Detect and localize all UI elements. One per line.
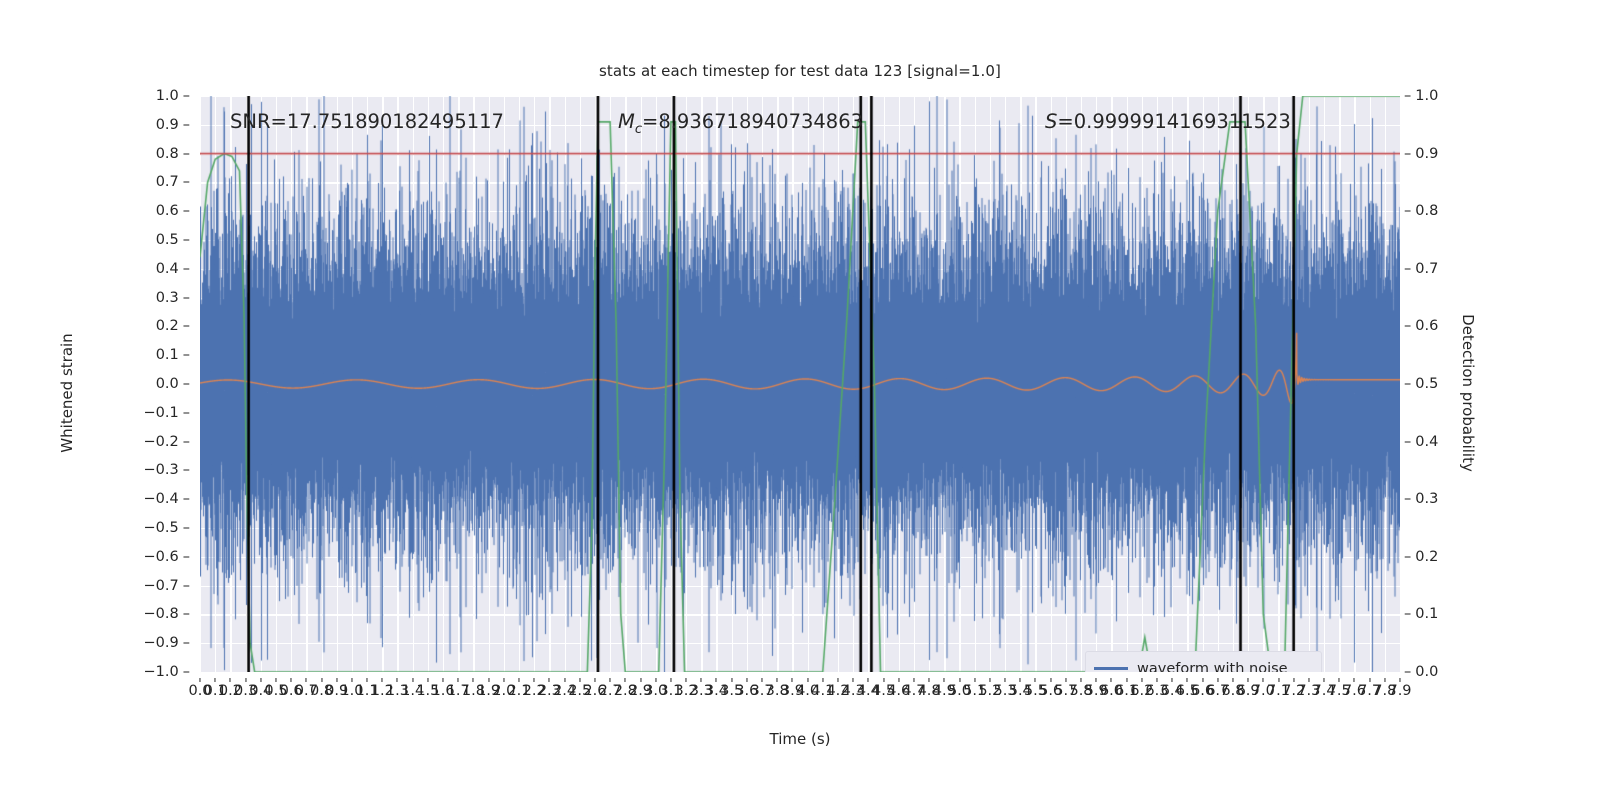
y-tick-label-right: –0.5 <box>1404 376 1514 392</box>
y-tick-label-left: 0.7– <box>90 174 190 190</box>
legend: waveform with noise waveform without noi… <box>1085 651 1322 672</box>
y-tick-label-left: −0.7– <box>90 578 190 594</box>
y-tick-label-left: −0.5– <box>90 520 190 536</box>
y-tick-label-right: –0.7 <box>1404 261 1514 277</box>
annotation-chirp-mass: Mc=8.936718940734863 <box>618 110 863 137</box>
legend-label-noisy: waveform with noise <box>1137 661 1288 673</box>
y-tick-label-right: –0.3 <box>1404 491 1514 507</box>
y-tick-label-right: –0.1 <box>1404 606 1514 622</box>
plot-traces-canvas <box>200 96 1400 672</box>
matplotlib-figure: stats at each timestep for test data 123… <box>0 0 1600 800</box>
y-axis-label-left: Whitened strain <box>58 193 76 593</box>
y-tick-label-left: 0.0– <box>90 376 190 392</box>
y-tick-label-left: −0.3– <box>90 462 190 478</box>
y-tick-label-left: −0.9– <box>90 635 190 651</box>
y-tick-label-right: –0.8 <box>1404 203 1514 219</box>
y-tick-label-left: 0.4– <box>90 261 190 277</box>
y-tick-label-left: 0.6– <box>90 203 190 219</box>
y-tick-label-left: −1.0– <box>90 664 190 680</box>
y-tick-label-left: 0.2– <box>90 318 190 334</box>
y-tick-label-left: 1.0– <box>90 88 190 104</box>
y-axis-label-right: Detection probability <box>1459 193 1477 593</box>
annotation-snr-text: SNR=17.751890182495117 <box>230 110 504 133</box>
legend-swatch-noisy <box>1094 667 1128 669</box>
y-tick-label-right: –0.0 <box>1404 664 1514 680</box>
page-title: stats at each timestep for test data 123… <box>0 62 1600 80</box>
y-tick-label-left: 0.1– <box>90 347 190 363</box>
y-tick-label-left: −0.1– <box>90 405 190 421</box>
y-tick-label-right: –0.9 <box>1404 146 1514 162</box>
y-tick-label-right: –0.2 <box>1404 549 1514 565</box>
y-tick-label-left: 0.3– <box>90 290 190 306</box>
y-tick-label-right: –0.4 <box>1404 434 1514 450</box>
legend-item-noisy: waveform with noise <box>1094 658 1311 672</box>
y-tick-label-left: −0.2– <box>90 434 190 450</box>
annotation-snr: SNR=17.751890182495117 <box>230 110 504 133</box>
x-tick-label: 7.9 <box>1388 678 1411 699</box>
y-tick-label-left: −0.4– <box>90 491 190 507</box>
y-tick-label-left: −0.6– <box>90 549 190 565</box>
y-tick-label-left: 0.9– <box>90 117 190 133</box>
plot-axes: SNR=17.751890182495117 Mc=8.936718940734… <box>200 96 1400 672</box>
annotation-score: S=0.9999914169311523 <box>1045 110 1291 133</box>
y-tick-label-left: −0.8– <box>90 606 190 622</box>
y-tick-label-right: –1.0 <box>1404 88 1514 104</box>
x-axis-label: Time (s) <box>0 730 1600 748</box>
y-tick-label-right: –0.6 <box>1404 318 1514 334</box>
y-tick-label-left: 0.5– <box>90 232 190 248</box>
y-tick-label-left: 0.8– <box>90 146 190 162</box>
